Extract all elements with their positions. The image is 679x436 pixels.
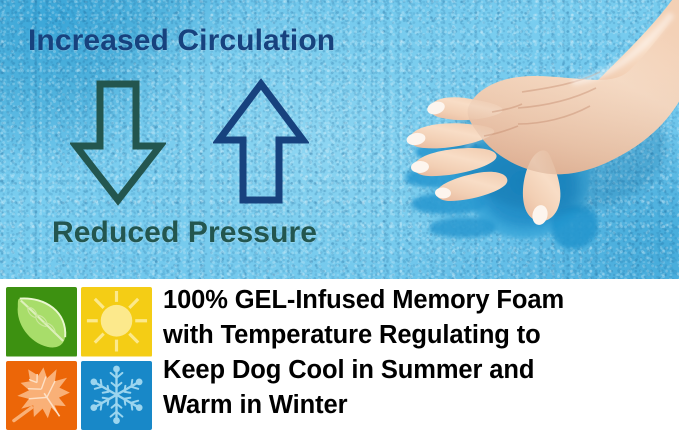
sun-icon bbox=[81, 287, 152, 357]
season-tile-summer bbox=[81, 287, 152, 357]
memory-foam-photo: Increased Circulation Reduced Pressure bbox=[0, 0, 679, 279]
headline-line-3: Keep Dog Cool in Summer and bbox=[163, 353, 679, 388]
down-arrow-icon bbox=[70, 78, 166, 208]
feature-headline: 100% GEL-Infused Memory Foam with Temper… bbox=[163, 283, 679, 423]
product-feature-graphic: Increased Circulation Reduced Pressure bbox=[0, 0, 679, 436]
season-tile-winter bbox=[81, 361, 152, 431]
leaf-icon bbox=[6, 287, 77, 357]
season-icon-grid bbox=[6, 287, 152, 430]
hand-and-imprint bbox=[372, 0, 679, 279]
season-tile-autumn bbox=[6, 361, 77, 431]
feature-info-panel: 100% GEL-Infused Memory Foam with Temper… bbox=[0, 279, 679, 436]
caption-reduced-pressure: Reduced Pressure bbox=[52, 216, 317, 250]
up-arrow-icon bbox=[213, 76, 309, 208]
caption-increased-circulation: Increased Circulation bbox=[28, 24, 335, 58]
headline-line-2: with Temperature Regulating to bbox=[163, 318, 679, 353]
hand bbox=[406, 0, 679, 226]
snowflake-icon bbox=[81, 361, 152, 431]
headline-line-1: 100% GEL-Infused Memory Foam bbox=[163, 283, 679, 318]
maple-leaf-icon bbox=[6, 361, 77, 431]
season-tile-spring bbox=[6, 287, 77, 357]
headline-line-4: Warm in Winter bbox=[163, 388, 679, 423]
